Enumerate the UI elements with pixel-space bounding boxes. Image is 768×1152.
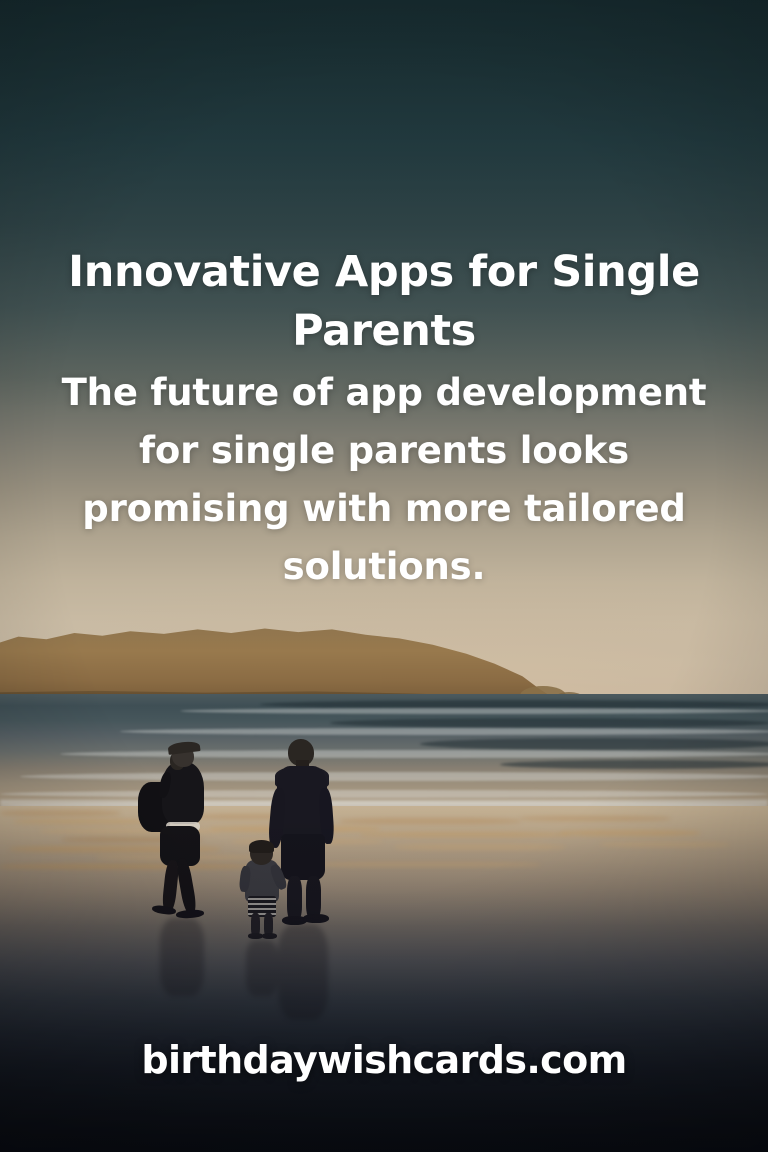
website-watermark: birthdaywishcards.com xyxy=(0,1038,768,1082)
pinterest-image-card: Innovative Apps for Single Parents The f… xyxy=(0,0,768,1152)
card-subtitle: The future of app development for single… xyxy=(58,364,710,596)
card-title: Innovative Apps for Single Parents xyxy=(64,243,704,361)
text-overlay: Innovative Apps for Single Parents The f… xyxy=(0,0,768,1152)
